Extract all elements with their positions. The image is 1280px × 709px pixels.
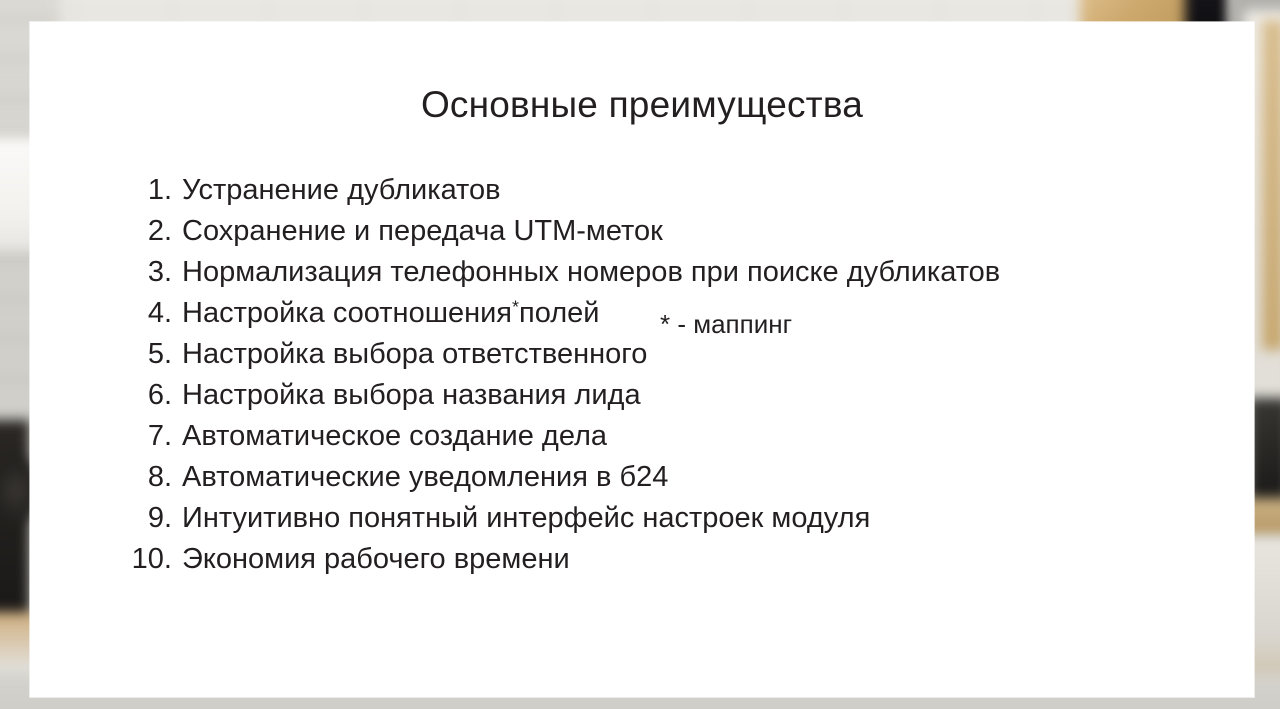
list-item-number: 10. xyxy=(30,543,172,576)
list-item-number: 9. xyxy=(30,502,172,535)
list-item-number: 1. xyxy=(30,174,172,207)
list-item-label: Устранение дубликатов xyxy=(182,174,501,207)
list-item-label: Нормализация телефонных номеров при поис… xyxy=(182,256,1000,289)
list-item: 2.Сохранение и передача UTM-меток xyxy=(30,215,1254,256)
asterisk-superscript: * xyxy=(512,297,519,317)
list-item-number: 3. xyxy=(30,256,172,289)
list-item-label: Сохранение и передача UTM-меток xyxy=(182,215,663,248)
list-item-number: 4. xyxy=(30,297,172,330)
list-item: 8.Автоматические уведомления в б24 xyxy=(30,461,1254,502)
list-item-label-text: Настройка соотношения xyxy=(182,297,512,329)
list-item-label: Настройка выбора названия лида xyxy=(182,379,641,412)
list-item-label-text-after: полей xyxy=(519,297,599,329)
page-title: Основные преимущества xyxy=(30,84,1254,126)
list-item-number: 2. xyxy=(30,215,172,248)
benefits-list: 1.Устранение дубликатов2.Сохранение и пе… xyxy=(30,174,1254,584)
list-item-label: Интуитивно понятный интерфейс настроек м… xyxy=(182,502,870,535)
list-item: 1.Устранение дубликатов xyxy=(30,174,1254,215)
list-item: 4.Настройка соотношения*полей xyxy=(30,297,1254,338)
list-item-label: Экономия рабочего времени xyxy=(182,543,570,576)
list-item-number: 8. xyxy=(30,461,172,494)
list-item-label: Автоматические уведомления в б24 xyxy=(182,461,668,494)
list-item: 3.Нормализация телефонных номеров при по… xyxy=(30,256,1254,297)
list-item-label: Настройка выбора ответственного xyxy=(182,338,647,371)
list-item: 10.Экономия рабочего времени xyxy=(30,543,1254,584)
list-item-number: 7. xyxy=(30,420,172,453)
presentation-slide: Основные преимущества 1.Устранение дубли… xyxy=(30,22,1254,697)
list-item-number: 6. xyxy=(30,379,172,412)
list-item: 7.Автоматическое создание дела xyxy=(30,420,1254,461)
mapping-footnote: * - маппинг xyxy=(660,309,792,340)
list-item: 9.Интуитивно понятный интерфейс настроек… xyxy=(30,502,1254,543)
list-item: 5.Настройка выбора ответственного xyxy=(30,338,1254,379)
list-item-label: Настройка соотношения*полей xyxy=(182,297,599,330)
list-item-label: Автоматическое создание дела xyxy=(182,420,607,453)
background-wood-panel-right xyxy=(1262,20,1280,350)
list-item: 6.Настройка выбора названия лида xyxy=(30,379,1254,420)
list-item-number: 5. xyxy=(30,338,172,371)
